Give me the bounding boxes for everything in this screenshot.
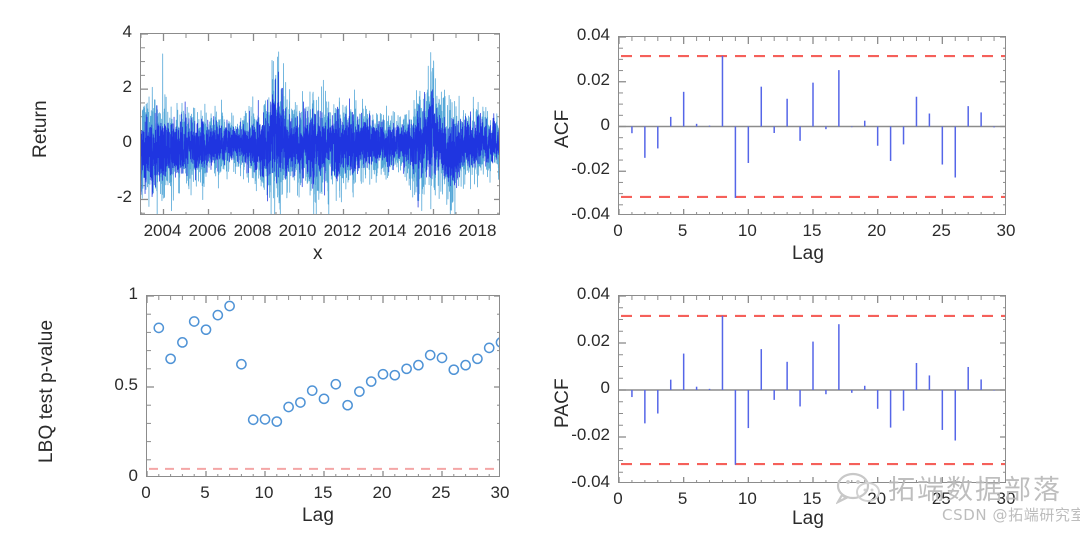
tick-label: -0.02 xyxy=(571,159,610,179)
acf-y-axis-label: ACF xyxy=(552,110,574,148)
tick-label: 5 xyxy=(678,489,687,509)
lbq-canvas xyxy=(147,296,500,477)
lbq-x-axis-label: Lag xyxy=(302,505,334,527)
tick-label: 2008 xyxy=(234,221,272,241)
tick-label: 20 xyxy=(867,489,886,509)
panel-lbq: LBQ test p-value Lag 05101520253000.51 xyxy=(0,270,540,540)
tick-label: -2 xyxy=(117,187,132,207)
tick-label: 15 xyxy=(803,221,822,241)
tick-label: 0.02 xyxy=(577,331,610,351)
tick-label: -0.02 xyxy=(571,425,610,445)
tick-label: 2018 xyxy=(459,221,497,241)
tick-label: 0 xyxy=(613,489,622,509)
return-plot-box xyxy=(140,33,500,215)
tick-label: 10 xyxy=(738,221,757,241)
tick-label: 30 xyxy=(997,221,1016,241)
tick-label: 30 xyxy=(997,489,1016,509)
tick-label: 0 xyxy=(141,483,150,503)
tick-label: 0.04 xyxy=(577,25,610,45)
tick-label: 0.5 xyxy=(114,375,138,395)
panel-return-series: Return x 2004200620082010201220142016201… xyxy=(0,0,540,270)
tick-label: 2016 xyxy=(414,221,452,241)
matlab-figure-window: Return x 2004200620082010201220142016201… xyxy=(0,0,1080,540)
tick-label: 25 xyxy=(932,489,951,509)
tick-label: 10 xyxy=(255,483,274,503)
tick-label: 2006 xyxy=(189,221,227,241)
tick-label: 15 xyxy=(803,489,822,509)
pacf-x-axis-label: Lag xyxy=(792,508,824,530)
tick-label: 25 xyxy=(932,221,951,241)
panel-acf: ACF Lag 051015202530-0.04-0.0200.020.04 xyxy=(540,0,1080,270)
tick-label: -0.04 xyxy=(571,472,610,492)
tick-label: 5 xyxy=(678,221,687,241)
tick-label: 0.04 xyxy=(577,284,610,304)
tick-label: 5 xyxy=(200,483,209,503)
tick-label: 0 xyxy=(613,221,622,241)
acf-plot-box xyxy=(618,36,1006,215)
return-x-axis-label: x xyxy=(313,243,323,265)
tick-label: 0 xyxy=(129,466,138,486)
tick-label: 2004 xyxy=(144,221,182,241)
tick-label: 25 xyxy=(432,483,451,503)
tick-label: 2 xyxy=(123,77,132,97)
tick-label: 0 xyxy=(123,132,132,152)
return-series-canvas xyxy=(141,34,500,215)
tick-label: 30 xyxy=(491,483,510,503)
lbq-plot-box xyxy=(146,295,500,477)
tick-label: 2014 xyxy=(369,221,407,241)
acf-canvas xyxy=(619,37,1006,215)
pacf-y-axis-label: PACF xyxy=(552,378,574,428)
return-y-axis-label: Return xyxy=(30,100,52,158)
tick-label: 20 xyxy=(373,483,392,503)
tick-label: 20 xyxy=(867,221,886,241)
tick-label: 2010 xyxy=(279,221,317,241)
tick-label: 10 xyxy=(738,489,757,509)
tick-label: 15 xyxy=(314,483,333,503)
tick-label: 0.02 xyxy=(577,70,610,90)
tick-label: -0.04 xyxy=(571,204,610,224)
tick-label: 2012 xyxy=(324,221,362,241)
tick-label: 0 xyxy=(601,378,610,398)
pacf-plot-box xyxy=(618,295,1006,483)
tick-label: 4 xyxy=(123,22,132,42)
acf-x-axis-label: Lag xyxy=(792,243,824,265)
lbq-y-axis-label: LBQ test p-value xyxy=(36,320,58,463)
tick-label: 1 xyxy=(129,284,138,304)
tick-label: 0 xyxy=(601,115,610,135)
panel-pacf: PACF Lag 051015202530-0.04-0.0200.020.04 xyxy=(540,270,1080,540)
pacf-canvas xyxy=(619,296,1006,483)
